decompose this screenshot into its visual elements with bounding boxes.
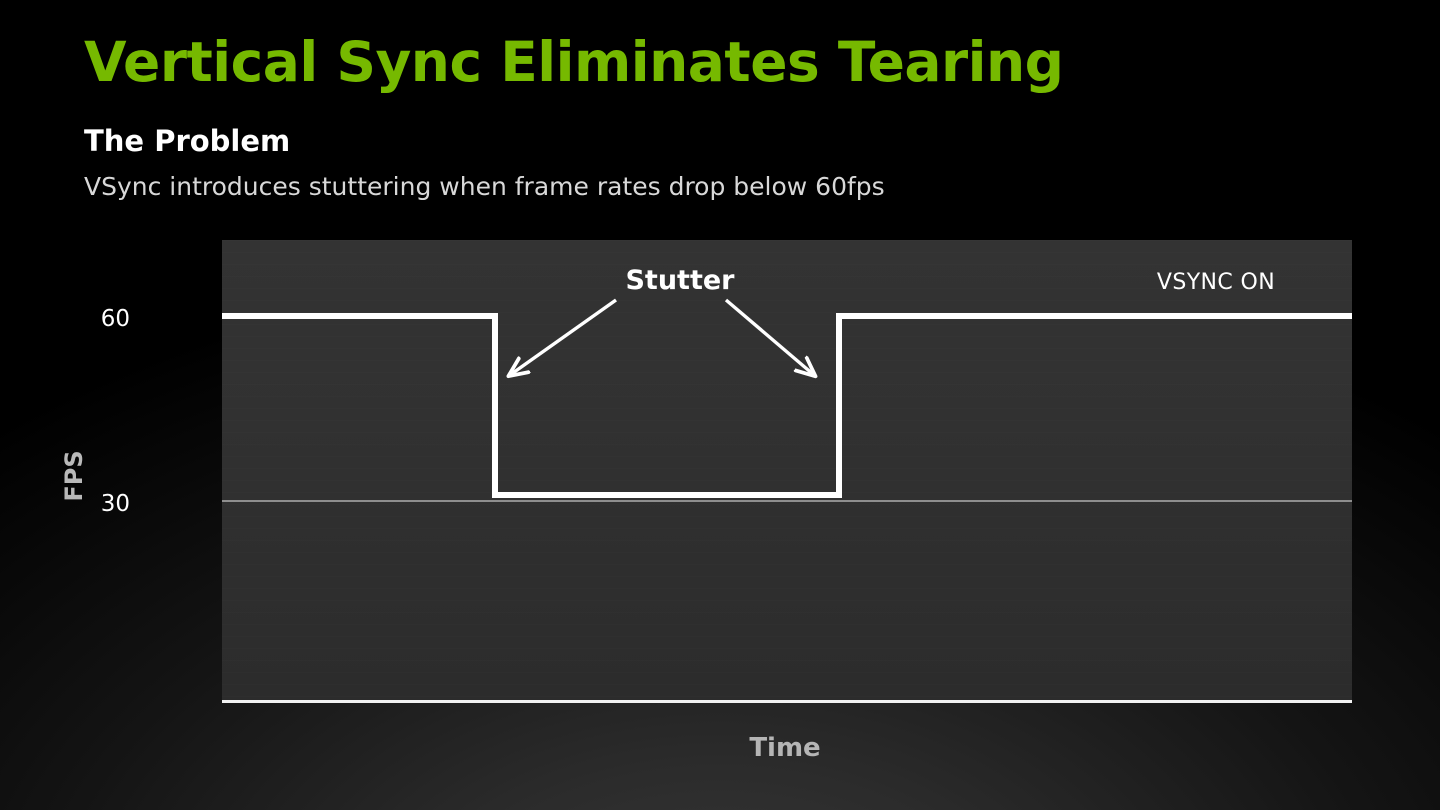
trace-segment-60fps-right xyxy=(836,313,1352,319)
trace-segment-60fps-left xyxy=(222,313,498,319)
x-axis-label: Time xyxy=(685,733,885,763)
vsync-on-badge: VSYNC ON xyxy=(1096,270,1336,295)
slide-canvas: Vertical Sync Eliminates Tearing The Pro… xyxy=(0,0,1440,810)
y-axis-tick-60: 60 xyxy=(70,306,130,332)
fps-chart: 60 30 FPS Time Stutter VSYNC ON xyxy=(0,0,1440,810)
gridline-30fps xyxy=(222,500,1352,502)
stutter-annotation-label: Stutter xyxy=(560,265,800,296)
trace-segment-30fps-middle xyxy=(492,492,842,498)
trace-segment-rise-up xyxy=(836,313,842,498)
chart-plot-area xyxy=(222,240,1352,702)
y-axis-label: FPS xyxy=(60,416,88,536)
trace-segment-drop-down xyxy=(492,313,498,498)
x-axis-line xyxy=(222,700,1352,703)
